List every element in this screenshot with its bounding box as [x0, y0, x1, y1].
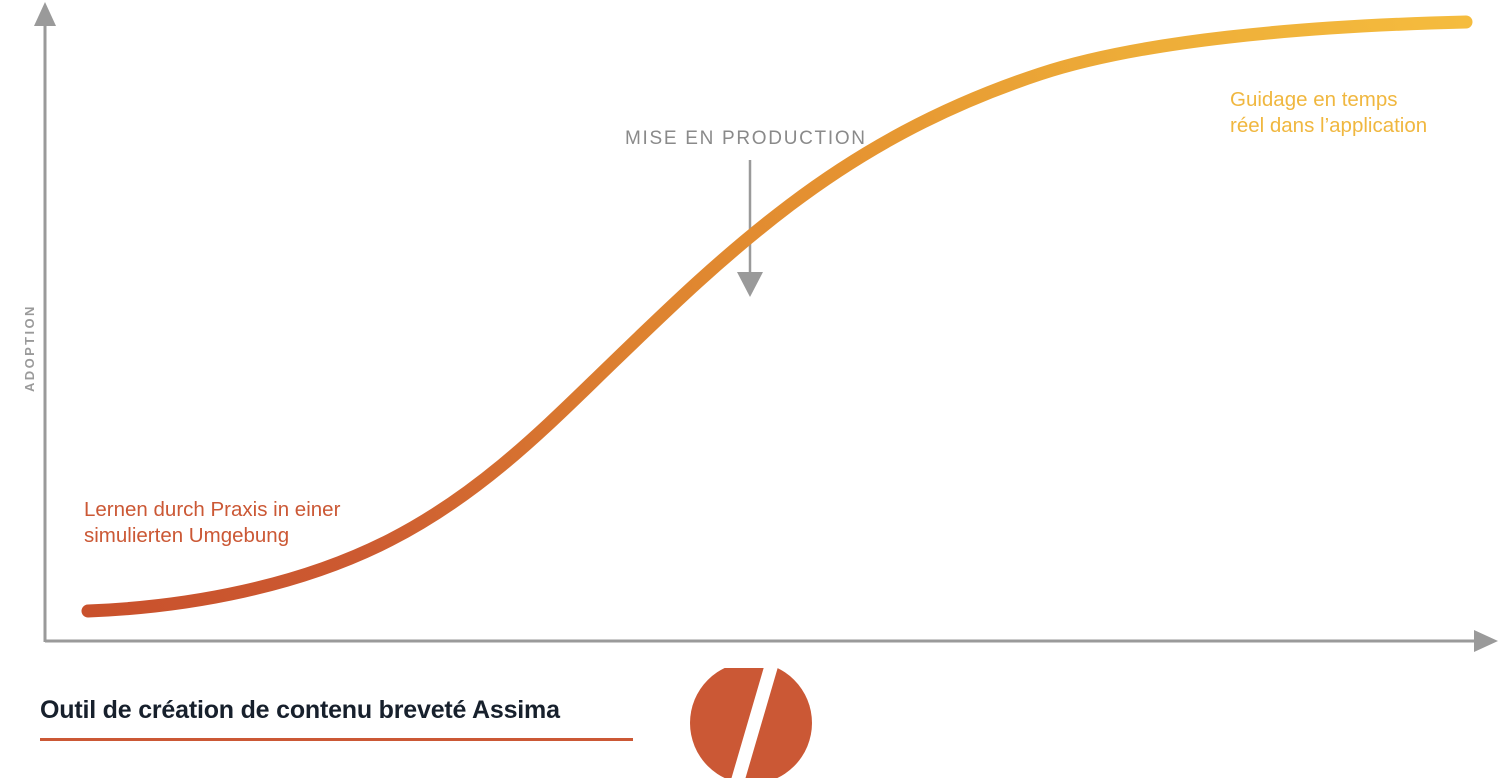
curve-start-annotation-line2: simulierten Umgebung: [84, 523, 340, 549]
y-axis-arrowhead: [34, 2, 56, 26]
x-axis-arrowhead: [1474, 630, 1498, 652]
y-axis-label: ADOPTION: [22, 304, 37, 392]
milestone-pointer-arrowhead: [737, 272, 763, 297]
curve-end-annotation-line1: Guidage en temps: [1230, 87, 1427, 113]
caption-block: Outil de création de contenu breveté Ass…: [40, 697, 640, 741]
curve-start-annotation: Lernen durch Praxis in einer simulierten…: [84, 497, 340, 549]
assima-logo: [690, 660, 812, 778]
caption-underline: [40, 738, 633, 741]
curve-end-annotation: Guidage en temps réel dans l’application: [1230, 87, 1427, 139]
curve-start-annotation-line1: Lernen durch Praxis in einer: [84, 497, 340, 523]
adoption-curve-diagram: ADOPTION MISE EN PRODUCTION Lernen durch…: [0, 0, 1500, 778]
caption-title: Outil de création de contenu breveté Ass…: [40, 697, 640, 725]
milestone-annotation-label: MISE EN PRODUCTION: [625, 128, 867, 150]
curve-end-annotation-line2: réel dans l’application: [1230, 113, 1427, 139]
